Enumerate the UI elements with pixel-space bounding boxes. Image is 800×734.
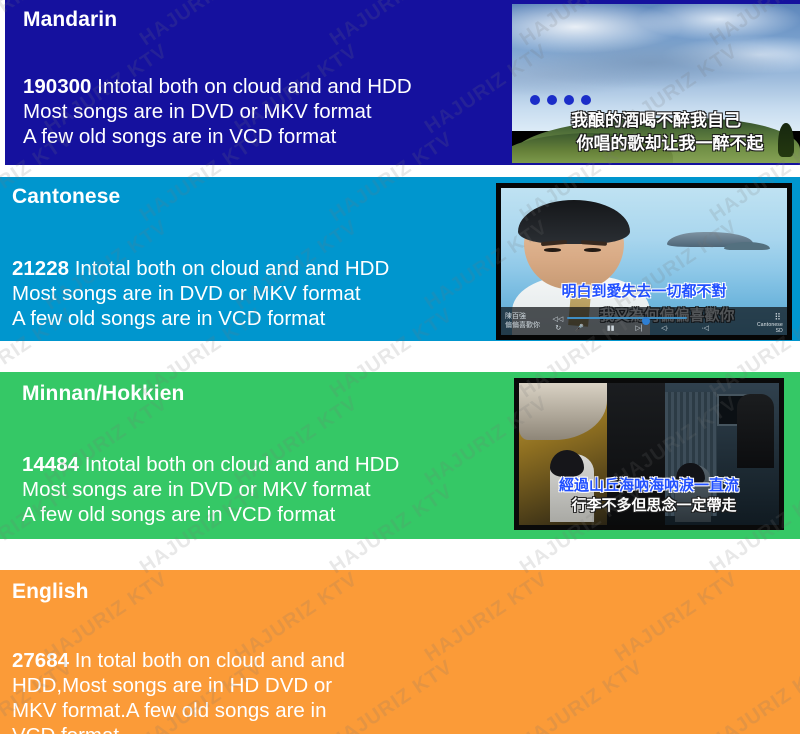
mandarin-ktv-thumbnail: 我酿的酒喝不醉我自己 你唱的歌却让我一醉不起	[512, 4, 800, 163]
repeat-icon[interactable]: ↻	[555, 324, 561, 332]
lyric-cue-dots	[530, 95, 591, 105]
section-cantonese: Cantonese 21228 Intotal both on cloud an…	[0, 177, 800, 341]
section-minnan: Minnan/Hokkien 14484 Intotal both on clo…	[0, 372, 800, 539]
mandarin-song-count: 190300	[23, 75, 91, 98]
volume-down-icon[interactable]: ◁·	[661, 324, 669, 332]
scene-figure-back	[737, 394, 773, 468]
island-shape-small	[724, 242, 770, 249]
english-title: English	[12, 580, 800, 603]
english-band: English 27684 In total both on cloud and…	[0, 570, 800, 734]
minnan-song-count: 14484	[22, 453, 79, 476]
section-mandarin: Mandarin 190300 Intotal both on cloud an…	[0, 0, 800, 165]
mic-icon[interactable]: 🎤	[575, 324, 584, 332]
singer-eye-right	[584, 248, 601, 252]
singer-eye-left	[544, 248, 561, 252]
english-song-count: 27684	[12, 649, 69, 672]
section-english: English 27684 In total both on cloud and…	[0, 570, 800, 734]
previous-track-icon[interactable]: ◁◁	[552, 315, 563, 323]
volume-up-icon[interactable]: ·◁	[701, 324, 709, 332]
cantonese-screen: 明白到愛失去一切都不對 我又為何偏偏喜歡你 陳百強 偏偏喜歡你 ◁◁ ↻ 🎤 ▮…	[501, 188, 787, 335]
pause-icon[interactable]: ▮▮	[607, 324, 615, 332]
player-seek-knob[interactable]	[642, 317, 650, 325]
mandarin-subtitle-line-1: 我酿的酒喝不醉我自己	[512, 112, 800, 129]
badge-quality: SD	[776, 328, 783, 334]
cantonese-description-text: Intotal both on cloud and and HDD Most s…	[12, 257, 389, 330]
english-description: 27684 In total both on cloud and and HDD…	[12, 623, 462, 734]
minnan-subtitle-line-2: 行李不多但思念一定帶走	[519, 498, 779, 513]
mandarin-subtitle-line-2: 你唱的歌却让我一醉不起	[512, 135, 800, 152]
minnan-subtitle-line-1: 經過山丘海吶海吶淚一直流	[519, 478, 779, 493]
next-track-icon[interactable]: ▷|	[635, 324, 642, 332]
player-control-bar[interactable]: 陳百強 偏偏喜歡你 ◁◁ ↻ 🎤 ▮▮ ▷| ◁· ·◁ ⠿ Cantonese…	[501, 307, 787, 335]
cantonese-subtitle-line-1: 明白到愛失去一切都不對	[501, 284, 787, 299]
player-seek-bar[interactable]	[567, 317, 687, 320]
badge-language: Cantonese	[757, 322, 783, 328]
player-song-label: 偏偏喜歡你	[505, 320, 540, 330]
ktv-language-catalog-page: Mandarin 190300 Intotal both on cloud an…	[0, 0, 800, 734]
minnan-description-text: Intotal both on cloud and and HDD Most s…	[22, 453, 399, 526]
cantonese-song-count: 21228	[12, 257, 69, 280]
mandarin-screen: 我酿的酒喝不醉我自己 你唱的歌却让我一醉不起	[512, 4, 800, 163]
minnan-screen: 經過山丘海吶海吶淚一直流 行李不多但思念一定帶走	[519, 383, 779, 525]
cantonese-ktv-thumbnail: 明白到愛失去一切都不對 我又為何偏偏喜歡你 陳百強 偏偏喜歡你 ◁◁ ↻ 🎤 ▮…	[496, 183, 792, 340]
minnan-ktv-thumbnail: 經過山丘海吶海吶淚一直流 行李不多但思念一定帶走	[514, 378, 784, 530]
